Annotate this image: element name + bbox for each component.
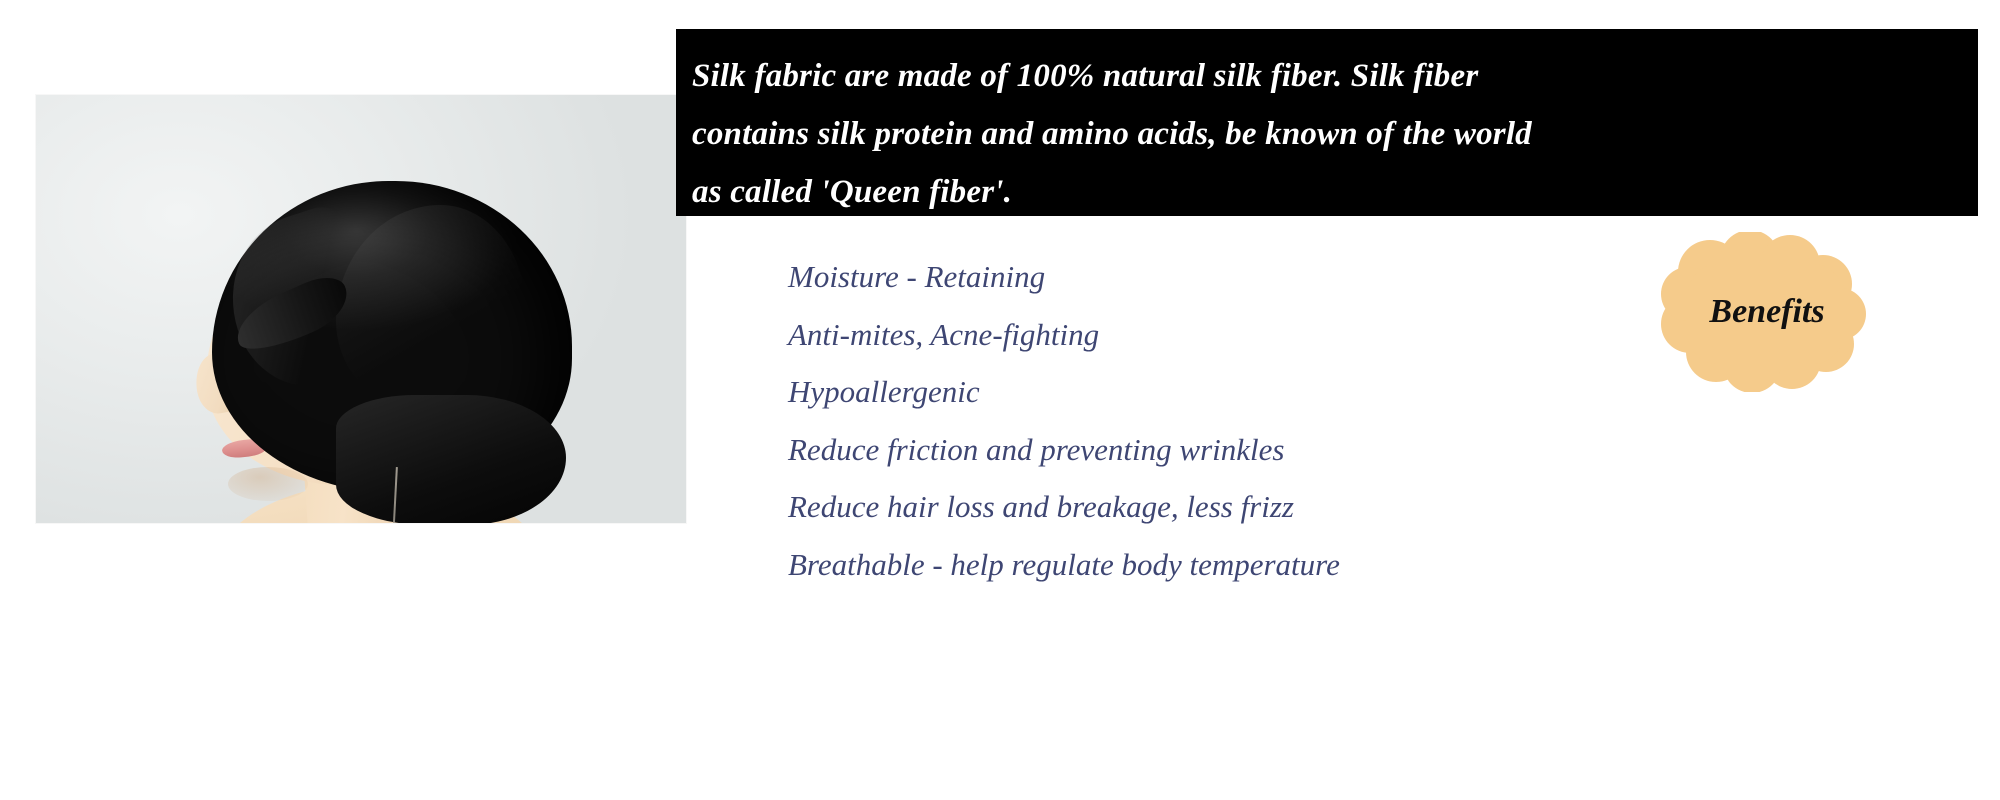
benefit-item: Anti-mites, Acne-fighting xyxy=(788,306,1628,364)
benefit-item: Moisture - Retaining xyxy=(788,248,1628,306)
benefit-item: Reduce friction and preventing wrinkles xyxy=(788,421,1628,479)
description-line-3: as called 'Queen fiber'. xyxy=(692,163,1956,221)
description-line-1: Silk fabric are made of 100% natural sil… xyxy=(692,47,1956,105)
product-photo xyxy=(36,95,686,523)
benefits-badge: Benefits xyxy=(1640,232,1890,392)
benefit-item: Hypoallergenic xyxy=(788,363,1628,421)
description-panel: Silk fabric are made of 100% natural sil… xyxy=(676,29,1978,216)
benefits-badge-label: Benefits xyxy=(1640,232,1890,392)
benefits-list: Moisture - Retaining Anti-mites, Acne-fi… xyxy=(788,248,1628,593)
description-line-2: contains silk protein and amino acids, b… xyxy=(692,105,1956,163)
benefit-item: Reduce hair loss and breakage, less friz… xyxy=(788,478,1628,536)
chin-shadow xyxy=(228,467,308,501)
benefit-item: Breathable - help regulate body temperat… xyxy=(788,536,1628,594)
bonnet-lower-drape xyxy=(336,395,566,523)
